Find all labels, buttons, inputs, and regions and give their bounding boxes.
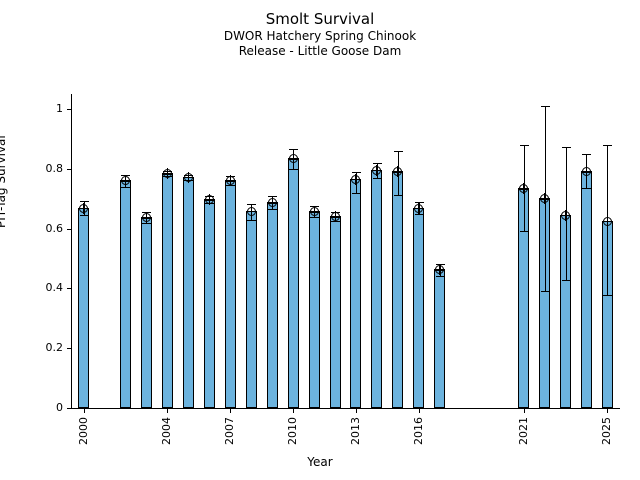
bar[interactable] [309,212,320,408]
error-bar-cap-upper [289,149,298,150]
point-estimate-marker[interactable] [142,213,151,222]
bar[interactable] [267,203,278,408]
error-bar-cap-upper [520,145,529,146]
x-tick-label: 2010 [287,417,298,445]
error-bar-cap-lower [436,276,445,277]
bar[interactable] [434,270,445,408]
y-tick-label: 0.4 [23,282,63,293]
y-tick-mark [67,169,71,170]
plot-area: 00.20.40.60.81 2000200420072010201320162… [71,94,620,408]
error-bar-cap-lower [80,215,89,216]
error-bar-cap-upper [352,172,361,173]
x-axis-label: Year [0,455,640,469]
error-bar-cap-lower [331,221,340,222]
x-tick-label: 2016 [413,417,424,445]
error-bar-cap-lower [226,185,235,186]
y-tick-mark [67,229,71,230]
error-bar-cap-lower [268,209,277,210]
x-tick-mark [84,409,85,413]
error-bar-cap-lower [289,169,298,170]
chart-title-block: Smolt Survival DWOR Hatchery Spring Chin… [0,10,640,59]
x-tick-label: 2000 [78,417,89,445]
y-tick-mark [67,109,71,110]
error-bar-cap-lower [310,217,319,218]
x-tick-mark [293,409,294,413]
error-bar-cap-upper [541,106,550,107]
y-tick-mark [67,288,71,289]
y-tick-label: 0 [23,402,63,413]
chart-subtitle-1: DWOR Hatchery Spring Chinook [0,29,640,44]
bar[interactable] [330,217,341,408]
error-bar-cap-lower [394,195,403,196]
point-estimate-marker[interactable] [247,207,256,216]
error-bar-cap-lower [415,214,424,215]
x-tick-label: 2013 [350,417,361,445]
x-tick-label: 2004 [161,417,172,445]
page-title: Smolt Survival [0,10,640,29]
y-tick-label: 0.2 [23,342,63,353]
bar[interactable] [371,170,382,408]
error-bar-cap-lower [373,178,382,179]
error-bar-cap-upper [373,163,382,164]
error-bar-cap-lower [520,231,529,232]
chart-subtitle-2: Release - Little Goose Dam [0,44,640,59]
point-estimate-marker[interactable] [79,204,88,213]
bar[interactable] [183,177,194,408]
bar[interactable] [225,181,236,408]
point-estimate-marker[interactable] [561,211,570,220]
error-bar-cap-upper [603,145,612,146]
point-estimate-marker[interactable] [310,207,319,216]
error-bar-cap-lower [562,280,571,281]
bar[interactable] [413,208,424,408]
error-bar-cap-lower [247,220,256,221]
bar[interactable] [581,172,592,408]
point-estimate-marker[interactable] [268,198,277,207]
y-tick-label: 0.6 [23,223,63,234]
y-tick-mark [67,408,71,409]
x-tick-label: 2025 [601,417,612,445]
chart-figure: Smolt Survival DWOR Hatchery Spring Chin… [0,0,640,480]
x-tick-mark [167,409,168,413]
point-estimate-marker[interactable] [331,212,340,221]
x-axis-spine [71,408,620,409]
error-bar-cap-upper [394,151,403,152]
x-tick-mark [230,409,231,413]
bar[interactable] [204,200,215,408]
point-estimate-marker[interactable] [205,195,214,204]
x-tick-mark [356,409,357,413]
error-bar-cap-lower [582,188,591,189]
x-tick-mark [524,409,525,413]
point-estimate-marker[interactable] [289,154,298,163]
error-bar-cap-lower [541,291,550,292]
point-estimate-marker[interactable] [603,217,612,226]
error-bar-cap-upper [562,147,571,148]
bar[interactable] [162,174,173,408]
error-bar-cap-lower [121,187,130,188]
error-bar-cap-upper [80,201,89,202]
x-tick-mark [607,409,608,413]
bar[interactable] [120,181,131,408]
bar[interactable] [288,159,299,408]
bar[interactable] [392,172,403,408]
point-estimate-marker[interactable] [184,173,193,182]
bar[interactable] [78,208,89,408]
y-axis-label: PIT-Tag Survival [0,135,8,228]
y-tick-label: 0.8 [23,163,63,174]
y-tick-mark [67,348,71,349]
x-tick-label: 2007 [224,417,235,445]
bar[interactable] [350,179,361,408]
x-tick-mark [419,409,420,413]
bar[interactable] [141,218,152,408]
error-bar-cap-lower [352,193,361,194]
bar[interactable] [246,211,257,408]
error-bar-cap-lower [142,223,151,224]
error-bar-cap-lower [603,295,612,296]
error-bar-cap-upper [582,154,591,155]
y-tick-label: 1 [23,103,63,114]
error-bar-cap-upper [247,204,256,205]
point-estimate-marker[interactable] [226,176,235,185]
y-axis-spine [71,94,72,408]
x-tick-label: 2021 [518,417,529,445]
